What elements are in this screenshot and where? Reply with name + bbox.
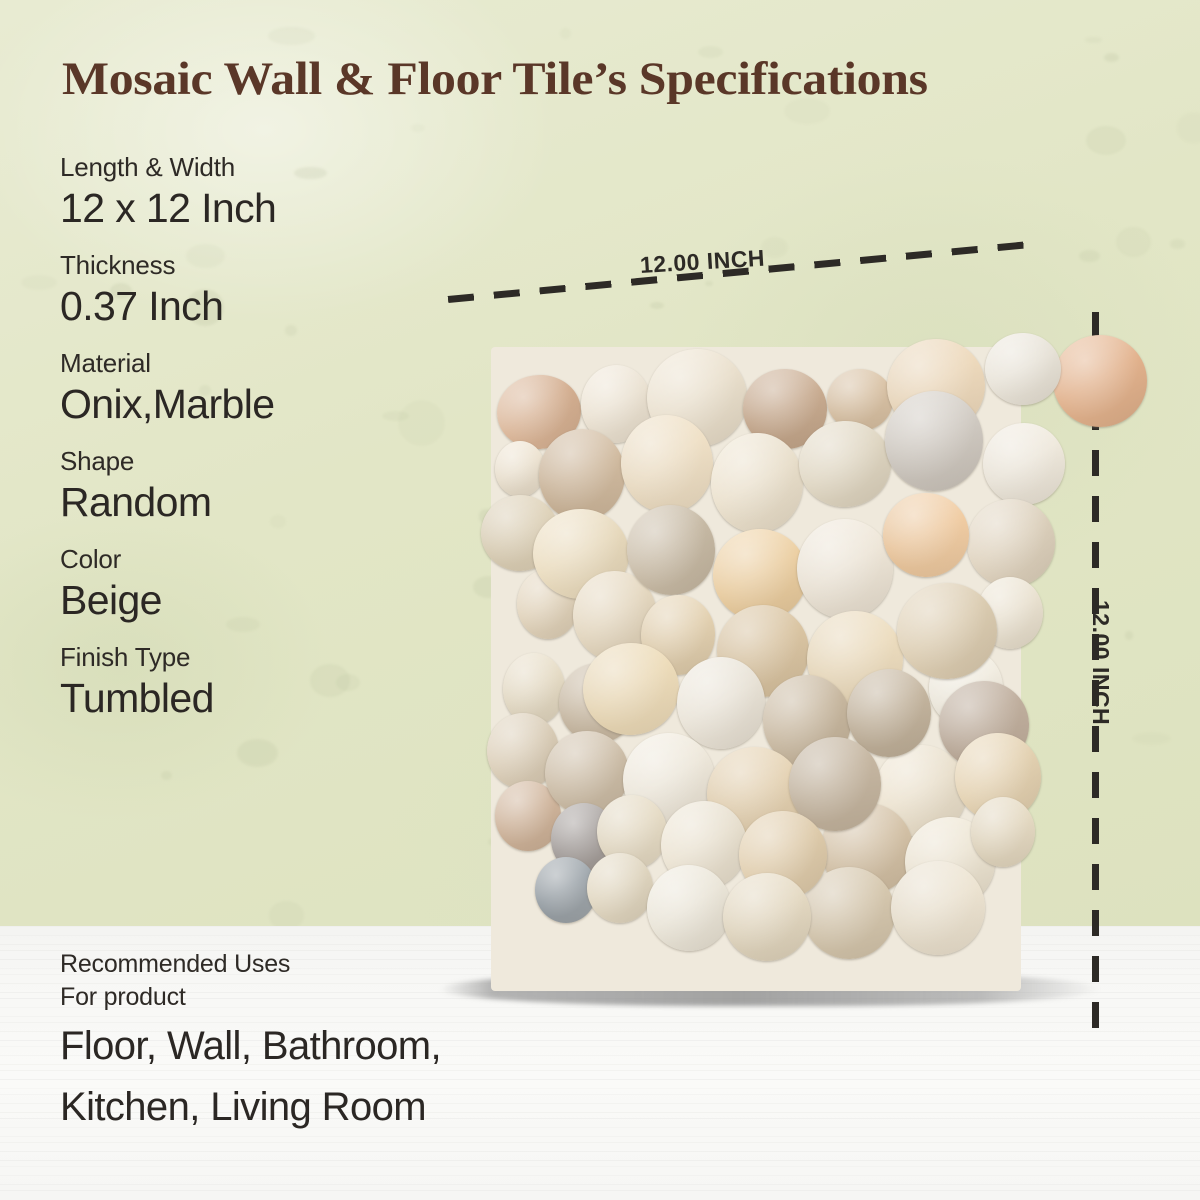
background-texture-speck bbox=[1132, 732, 1171, 746]
page-title: Mosaic Wall & Floor Tile’s Specification… bbox=[62, 52, 1154, 106]
spec-value-length-width: 12 x 12 Inch bbox=[60, 184, 460, 232]
recommended-uses-value-line1: Floor, Wall, Bathroom, bbox=[60, 1019, 680, 1074]
spec-value-finish-type: Tumbled bbox=[60, 674, 460, 722]
spec-label-shape: Shape bbox=[60, 446, 460, 477]
spec-label-finish-type: Finish Type bbox=[60, 642, 460, 673]
spec-value-material: Onix,Marble bbox=[60, 380, 460, 428]
spec-row-finish-type: Finish Type Tumbled bbox=[60, 642, 460, 722]
spec-label-material: Material bbox=[60, 348, 460, 379]
tile-pebble bbox=[967, 499, 1055, 587]
tile-pebble bbox=[495, 441, 545, 497]
tile-pebble bbox=[1053, 335, 1147, 427]
spec-row-color: Color Beige bbox=[60, 544, 460, 624]
background-texture-speck bbox=[268, 27, 315, 45]
surface-grain-line bbox=[0, 1142, 1200, 1143]
spec-row-length-width: Length & Width 12 x 12 Inch bbox=[60, 152, 460, 232]
background-texture-speck bbox=[1116, 227, 1150, 257]
surface-grain-line bbox=[0, 1160, 1200, 1161]
background-texture-speck bbox=[21, 275, 57, 289]
background-texture-speck bbox=[1086, 126, 1126, 155]
background-texture-speck bbox=[1085, 37, 1102, 43]
spec-row-shape: Shape Random bbox=[60, 446, 460, 526]
mosaic-tile-image bbox=[477, 333, 1035, 1005]
background-texture-speck bbox=[705, 281, 714, 286]
surface-grain-line bbox=[0, 1166, 1200, 1167]
spec-label-thickness: Thickness bbox=[60, 250, 460, 281]
right-dimension-label: 12.00 INCH bbox=[1087, 600, 1114, 725]
spec-value-shape: Random bbox=[60, 478, 460, 526]
tile-pebble bbox=[971, 797, 1035, 867]
tile-pebble bbox=[983, 423, 1065, 505]
background-texture-speck bbox=[411, 124, 424, 132]
specification-list: Length & Width 12 x 12 Inch Thickness 0.… bbox=[60, 152, 460, 740]
spec-row-material: Material Onix,Marble bbox=[60, 348, 460, 428]
background-texture-speck bbox=[1079, 250, 1100, 263]
recommended-uses-value-line2: Kitchen, Living Room bbox=[60, 1080, 680, 1135]
spec-row-thickness: Thickness 0.37 Inch bbox=[60, 250, 460, 330]
background-texture-speck bbox=[237, 739, 278, 767]
spec-label-color: Color bbox=[60, 544, 460, 575]
background-texture-speck bbox=[761, 237, 788, 258]
spec-value-thickness: 0.37 Inch bbox=[60, 282, 460, 330]
surface-grain-line bbox=[0, 1175, 1200, 1176]
surface-grain-line bbox=[0, 1151, 1200, 1152]
surface-grain-line bbox=[0, 1136, 1200, 1137]
spec-value-color: Beige bbox=[60, 576, 460, 624]
infographic-page: Mosaic Wall & Floor Tile’s Specification… bbox=[0, 0, 1200, 1200]
surface-grain-line bbox=[0, 1190, 1200, 1191]
background-texture-speck bbox=[560, 28, 571, 39]
tile-pebble bbox=[587, 853, 653, 923]
background-texture-speck bbox=[1125, 631, 1133, 639]
background-texture-speck bbox=[1176, 112, 1200, 144]
background-texture-speck bbox=[161, 771, 172, 780]
spec-label-length-width: Length & Width bbox=[60, 152, 460, 183]
background-texture-speck bbox=[1170, 239, 1185, 248]
surface-grain-line bbox=[0, 1184, 1200, 1185]
background-texture-speck bbox=[650, 302, 663, 309]
